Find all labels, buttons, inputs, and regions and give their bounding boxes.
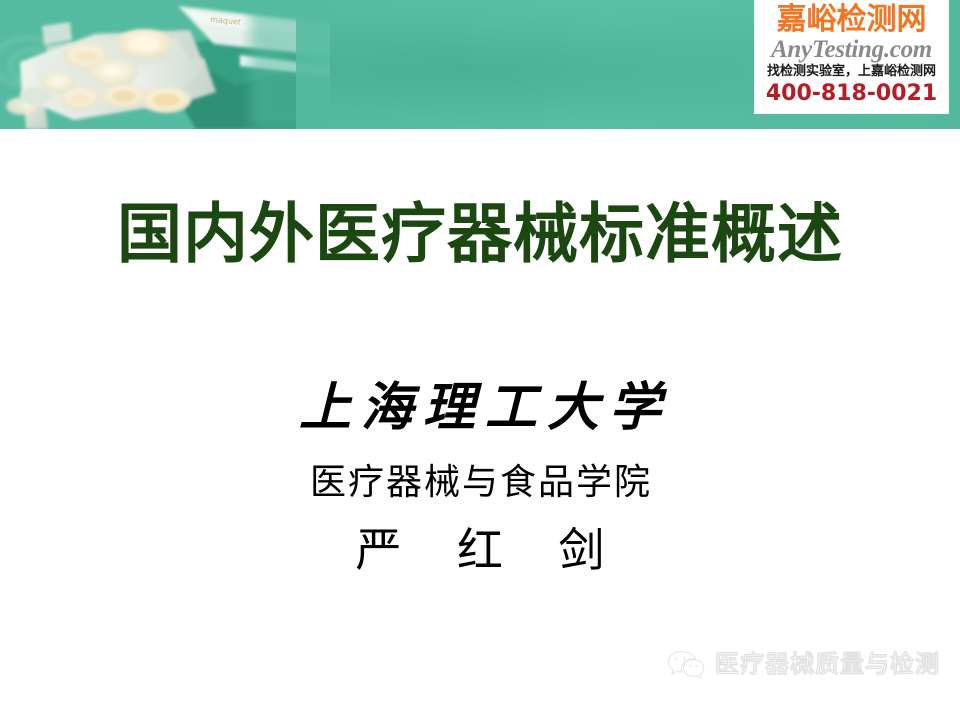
university-name: 上海理工大学 bbox=[0, 377, 960, 439]
watermark-label: 医疗器械质量与检测 bbox=[715, 650, 940, 678]
slide-title: 国内外医疗器械标准概述 bbox=[0, 196, 960, 274]
anytesting-logo[interactable]: 嘉峪检测网 AnyTesting.com 找检测实验室，上嘉峪检测网 400-8… bbox=[755, 0, 948, 113]
logo-phone-number: 400-818-0021 bbox=[761, 81, 942, 107]
surgical-lamp-photo: maquet bbox=[0, 0, 330, 129]
logo-domain: AnyTesting.com bbox=[761, 36, 942, 63]
header-banner: maquet bbox=[0, 0, 960, 129]
wechat-watermark: 医疗器械质量与检测 bbox=[666, 648, 940, 680]
wechat-icon bbox=[666, 648, 706, 680]
logo-tagline: 找检测实验室，上嘉峪检测网 bbox=[761, 63, 942, 81]
college-name: 医疗器械与食品学院 bbox=[0, 459, 960, 505]
presentation-slide: maquet bbox=[0, 0, 960, 720]
logo-brand-cn: 嘉峪检测网 bbox=[761, 4, 942, 36]
presenter-name: 严 红 剑 bbox=[0, 520, 960, 582]
